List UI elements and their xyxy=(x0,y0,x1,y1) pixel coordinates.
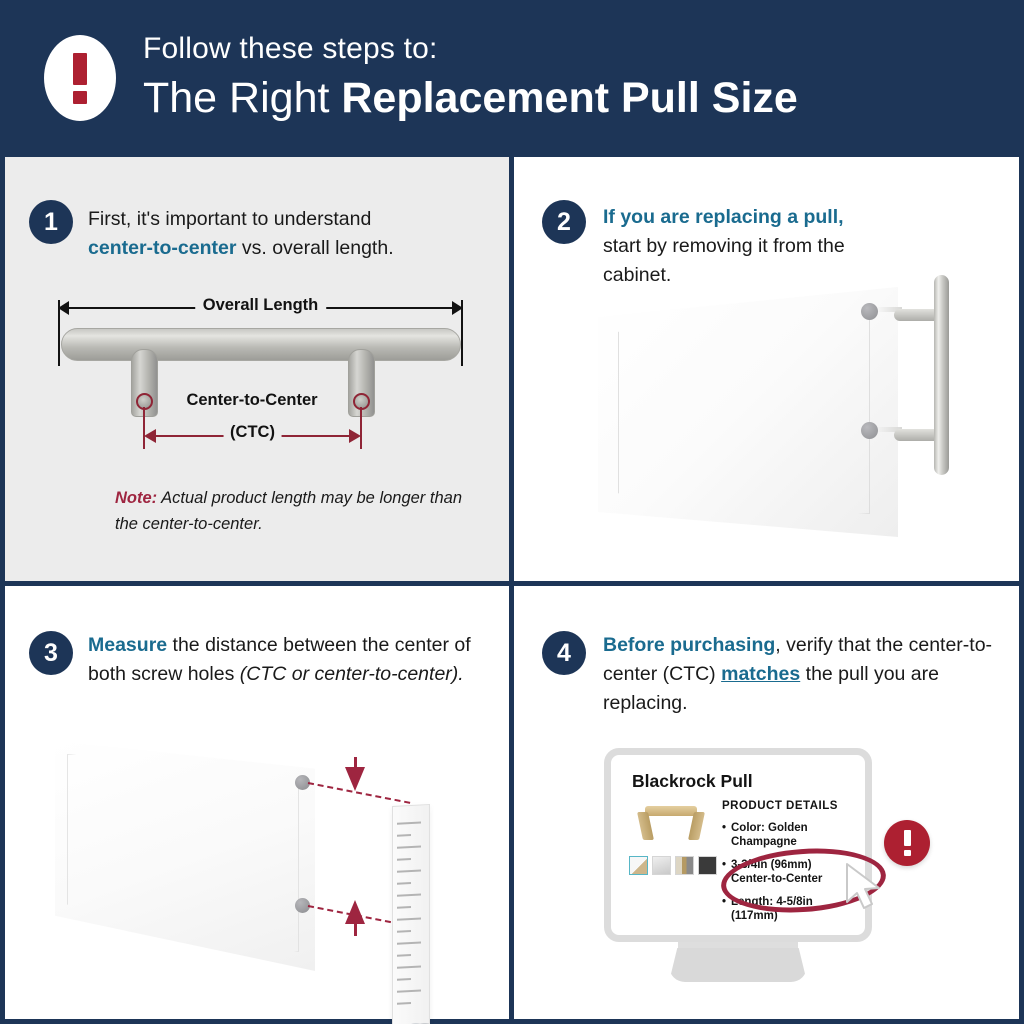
header-eyebrow: Follow these steps to: xyxy=(143,32,438,66)
step-4-text: Before purchasing, verify that the cente… xyxy=(603,631,993,718)
border-left xyxy=(0,157,5,1024)
step-2-text: If you are replacing a pull, start by re… xyxy=(603,203,853,290)
step-4-highlight: Before purchasing xyxy=(603,634,775,656)
step-number-3: 3 xyxy=(29,631,73,675)
arrow-right-icon xyxy=(452,301,463,315)
step-panel-2: 2 If you are replacing a pull, start by … xyxy=(514,157,1019,581)
page-title-bold: Replacement Pull Size xyxy=(341,74,797,122)
ctc-arrow-left-icon xyxy=(144,429,156,443)
step-3-highlight: Measure xyxy=(88,634,167,656)
step-2-highlight: If you are replacing a pull, xyxy=(603,206,844,228)
step-3-text-italic: (CTC or center-to-center). xyxy=(240,663,464,685)
step-3-text: Measure the distance between the center … xyxy=(88,631,488,689)
step-4-link-matches[interactable]: matches xyxy=(721,663,800,685)
divider-horizontal xyxy=(0,581,1024,586)
border-bottom xyxy=(0,1019,1024,1024)
removed-pull-graphic xyxy=(934,275,949,475)
infographic-page: Follow these steps to: The Right Replace… xyxy=(0,0,1024,1024)
page-header: Follow these steps to: The Right Replace… xyxy=(0,0,1024,157)
thumbnail-3[interactable] xyxy=(675,856,694,875)
thumbnail-2[interactable] xyxy=(652,856,671,875)
overall-length-dimension: Overall Length xyxy=(58,297,463,319)
product-thumbnail-strip[interactable] xyxy=(629,856,717,875)
product-detail-color: Color: Golden Champagne xyxy=(722,821,844,849)
monitor-base xyxy=(669,948,807,982)
note-prefix: Note: xyxy=(115,489,157,507)
cabinet-door-inner-panel xyxy=(618,307,870,514)
thumbnail-4[interactable] xyxy=(698,856,717,875)
divider-vertical xyxy=(509,157,514,1024)
page-title: The Right Replacement Pull Size xyxy=(143,74,798,123)
step-1-text-line1: First, it's important to understand xyxy=(88,208,371,230)
step-number-4: 4 xyxy=(542,631,586,675)
alert-exclamation-icon xyxy=(44,35,116,121)
step-2-text-rest: start by removing it from the cabinet. xyxy=(603,235,845,286)
panel-1-note: Note: Actual product length may be longe… xyxy=(115,485,465,537)
ctc-dimension: (CTC) xyxy=(144,428,361,444)
ruler-graphic xyxy=(392,804,430,1024)
alert-badge-icon xyxy=(884,820,930,866)
note-body: Actual product length may be longer than… xyxy=(115,489,462,533)
bar-pull-graphic xyxy=(61,328,461,361)
step-number-1: 1 xyxy=(29,200,73,244)
ctc-abbrev-label: (CTC) xyxy=(223,423,282,442)
step-1-highlight: center-to-center xyxy=(88,237,236,259)
step-panel-3: 3 Measure the distance between the cente… xyxy=(5,586,509,1019)
screw-hole-top xyxy=(861,303,878,320)
step-1-text: First, it's important to understand cent… xyxy=(88,205,488,263)
arrow-left-icon xyxy=(58,301,69,315)
border-right xyxy=(1019,157,1024,1024)
product-details-heading: PRODUCT DETAILS xyxy=(722,800,844,812)
page-title-light: The Right xyxy=(143,74,341,122)
screw-hole-bottom xyxy=(861,422,878,439)
product-title: Blackrock Pull xyxy=(632,771,753,792)
overall-length-label: Overall Length xyxy=(195,296,327,315)
step-number-2: 2 xyxy=(542,200,586,244)
pull-dimension-diagram: Overall Length Center-to-Center (CTC) xyxy=(45,297,475,457)
thumbnail-1[interactable] xyxy=(629,856,648,875)
mouse-cursor-icon xyxy=(845,862,887,914)
step-1-text-line2: vs. overall length. xyxy=(236,237,393,259)
ctc-label: Center-to-Center xyxy=(107,391,397,410)
ctc-arrow-right-icon xyxy=(349,429,361,443)
product-image[interactable] xyxy=(633,798,709,850)
